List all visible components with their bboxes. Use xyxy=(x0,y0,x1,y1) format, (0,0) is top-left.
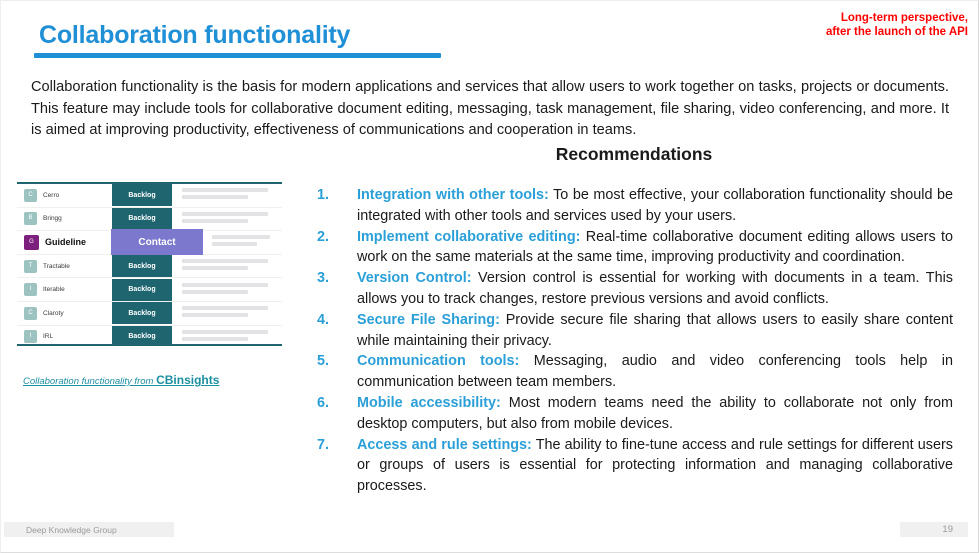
placeholder-bar xyxy=(182,266,248,270)
placeholder-bar xyxy=(182,195,248,199)
row-placeholder-bars xyxy=(173,212,282,226)
table-row: B Bringg Backlog xyxy=(17,208,282,232)
status-badge: Backlog xyxy=(112,184,172,206)
list-item-lead: Communication tools: xyxy=(357,353,519,369)
table-row: T Tractable Backlog xyxy=(17,255,282,279)
list-item-body: Communication tools: Messaging, audio an… xyxy=(357,351,953,393)
list-item: 1. Integration with other tools: To be m… xyxy=(317,185,953,227)
row-name-cell: I Iterable xyxy=(17,278,111,301)
slide-canvas: Collaboration functionality Long-term pe… xyxy=(0,0,979,553)
list-item-number: 2. xyxy=(317,227,357,248)
placeholder-bar xyxy=(182,306,268,310)
table-row: G Guideline Contact xyxy=(17,231,282,255)
row-placeholder-bars xyxy=(173,259,282,273)
placeholder-bar xyxy=(182,188,268,192)
status-badge: Backlog xyxy=(112,208,172,230)
row-status-cell: Backlog xyxy=(111,326,173,346)
row-name: Claroty xyxy=(43,310,64,317)
placeholder-bar xyxy=(212,235,270,239)
row-name-cell: T Tractable xyxy=(17,255,111,278)
corner-note-line-2: after the launch of the API xyxy=(826,25,968,39)
table-row: C Claroty Backlog xyxy=(17,302,282,326)
row-status-cell: Backlog xyxy=(111,184,173,207)
placeholder-bar xyxy=(212,242,257,246)
status-badge: Backlog xyxy=(112,302,172,324)
list-item-lead: Secure File Sharing: xyxy=(357,312,500,328)
list-item-lead: Implement collaborative editing: xyxy=(357,229,580,245)
placeholder-bar xyxy=(182,212,268,216)
list-item-body: Version Control: Version control is esse… xyxy=(357,268,953,310)
recommendations-list: 1. Integration with other tools: To be m… xyxy=(317,185,953,497)
table-row: I IRL Backlog xyxy=(17,326,282,346)
list-item-body: Secure File Sharing: Provide secure file… xyxy=(357,310,953,352)
list-item-number: 3. xyxy=(317,268,357,289)
placeholder-bar xyxy=(182,330,268,334)
title-underline-rule xyxy=(34,53,441,58)
caption-brand: CBinsights xyxy=(156,373,219,387)
list-item: 2. Implement collaborative editing: Real… xyxy=(317,227,953,269)
placeholder-bar xyxy=(182,290,248,294)
avatar: B xyxy=(24,212,37,225)
corner-note-line-1: Long-term perspective, xyxy=(826,11,968,25)
list-item: 5. Communication tools: Messaging, audio… xyxy=(317,351,953,393)
row-name: Guideline xyxy=(45,237,86,247)
row-placeholder-bars xyxy=(173,188,282,202)
row-placeholder-bars xyxy=(173,283,282,297)
placeholder-bar xyxy=(182,259,268,263)
embedded-screenshot: C Cerro Backlog B Bringg Backlog xyxy=(17,182,282,346)
row-status-cell: Backlog xyxy=(111,302,173,325)
row-status-cell: Backlog xyxy=(111,278,173,301)
status-badge: Backlog xyxy=(112,255,172,277)
row-status-cell: Backlog xyxy=(111,255,173,278)
row-placeholder-bars xyxy=(173,306,282,320)
list-item-body: Mobile accessibility: Most modern teams … xyxy=(357,393,953,435)
avatar: C xyxy=(24,307,37,320)
row-name: Tractable xyxy=(43,263,70,270)
table-row: C Cerro Backlog xyxy=(17,184,282,208)
corner-note: Long-term perspective, after the launch … xyxy=(826,11,968,39)
list-item-body: Access and rule settings: The ability to… xyxy=(357,435,953,497)
row-name-cell: I IRL xyxy=(17,326,111,346)
row-placeholder-bars xyxy=(203,235,282,249)
page-title: Collaboration functionality xyxy=(39,21,350,50)
list-item-number: 7. xyxy=(317,435,357,456)
list-item-lead: Version Control: xyxy=(357,270,472,286)
row-name: Bringg xyxy=(43,215,62,222)
footer-organization: Deep Knowledge Group xyxy=(4,522,174,537)
placeholder-bar xyxy=(182,283,268,287)
list-item-number: 6. xyxy=(317,393,357,414)
avatar: I xyxy=(24,330,37,343)
list-item-body: Integration with other tools: To be most… xyxy=(357,185,953,227)
recommendations-heading: Recommendations xyxy=(319,144,949,165)
list-item-number: 4. xyxy=(317,310,357,331)
placeholder-bar xyxy=(182,219,248,223)
list-item: 4. Secure File Sharing: Provide secure f… xyxy=(317,310,953,352)
avatar: C xyxy=(24,189,37,202)
status-badge: Contact xyxy=(111,229,203,256)
placeholder-bar xyxy=(182,337,248,341)
table-row: I Iterable Backlog xyxy=(17,278,282,302)
row-name-cell: G Guideline xyxy=(17,231,111,254)
caption-text: Collaboration functionality from xyxy=(23,376,156,387)
avatar: T xyxy=(24,260,37,273)
row-name: Cerro xyxy=(43,192,59,199)
avatar: G xyxy=(24,235,39,250)
list-item-body: Implement collaborative editing: Real-ti… xyxy=(357,227,953,269)
list-item-number: 1. xyxy=(317,185,357,206)
list-item-number: 5. xyxy=(317,351,357,372)
row-placeholder-bars xyxy=(173,330,282,344)
list-item-lead: Mobile accessibility: xyxy=(357,395,501,411)
status-badge: Backlog xyxy=(112,279,172,301)
list-item: 6. Mobile accessibility: Most modern tea… xyxy=(317,393,953,435)
intro-paragraph: Collaboration functionality is the basis… xyxy=(31,77,949,142)
list-item: 7. Access and rule settings: The ability… xyxy=(317,435,953,497)
row-name: IRL xyxy=(43,333,53,340)
screenshot-caption: Collaboration functionality from CBinsig… xyxy=(23,373,219,387)
row-name-cell: B Bringg xyxy=(17,208,111,231)
row-name: Iterable xyxy=(43,286,65,293)
row-name-cell: C Claroty xyxy=(17,302,111,325)
row-status-cell: Contact xyxy=(111,231,203,254)
footer-page-number: 19 xyxy=(900,522,968,537)
row-status-cell: Backlog xyxy=(111,208,173,231)
placeholder-bar xyxy=(182,313,248,317)
list-item: 3. Version Control: Version control is e… xyxy=(317,268,953,310)
avatar: I xyxy=(24,283,37,296)
list-item-lead: Integration with other tools: xyxy=(357,187,549,203)
row-name-cell: C Cerro xyxy=(17,184,111,207)
list-item-lead: Access and rule settings: xyxy=(357,437,532,453)
status-badge: Backlog xyxy=(112,326,172,346)
